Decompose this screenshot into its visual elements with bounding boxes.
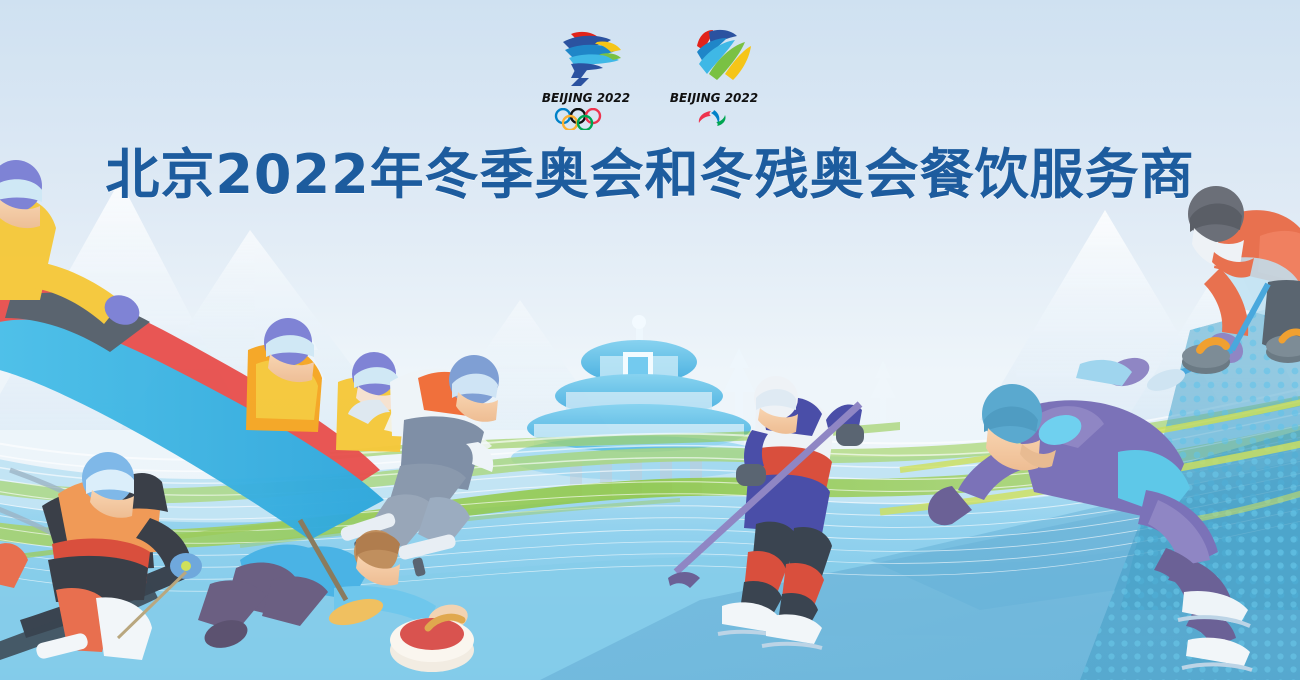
athlete-ice-hockey-player	[668, 376, 864, 648]
olympic-wordmark: BEIJING 2022	[540, 89, 632, 105]
paralympic-agitos-icon	[673, 108, 755, 130]
bobsleigh-rider-2	[246, 318, 322, 432]
paralympic-emblem-block: BEIJING 2022	[664, 28, 764, 130]
emblem-row: BEIJING 2022	[0, 28, 1300, 130]
olympic-rings-icon	[545, 108, 627, 130]
curling-stone-red	[390, 617, 474, 672]
athlete-alpine-skier	[0, 452, 202, 664]
olympic-emblem-block: BEIJING 2022	[536, 28, 636, 130]
olympic-wordmark-text: BEIJING 2022	[542, 91, 630, 105]
page-title: 北京2022年冬季奥会和冬残奥会餐饮服务商	[0, 148, 1300, 202]
paralympic-wordmark-text: BEIJING 2022	[670, 91, 758, 105]
athlete-curler-sweeper	[1076, 186, 1300, 395]
beijing-2022-banner: BEIJING 2022	[0, 0, 1300, 680]
paralympic-emblem-mark	[669, 28, 759, 86]
athlete-speed-skater	[928, 384, 1252, 670]
paralympic-wordmark: BEIJING 2022	[668, 89, 760, 105]
olympic-emblem-mark	[541, 28, 631, 86]
curling-stone-orange-1	[1182, 341, 1230, 374]
